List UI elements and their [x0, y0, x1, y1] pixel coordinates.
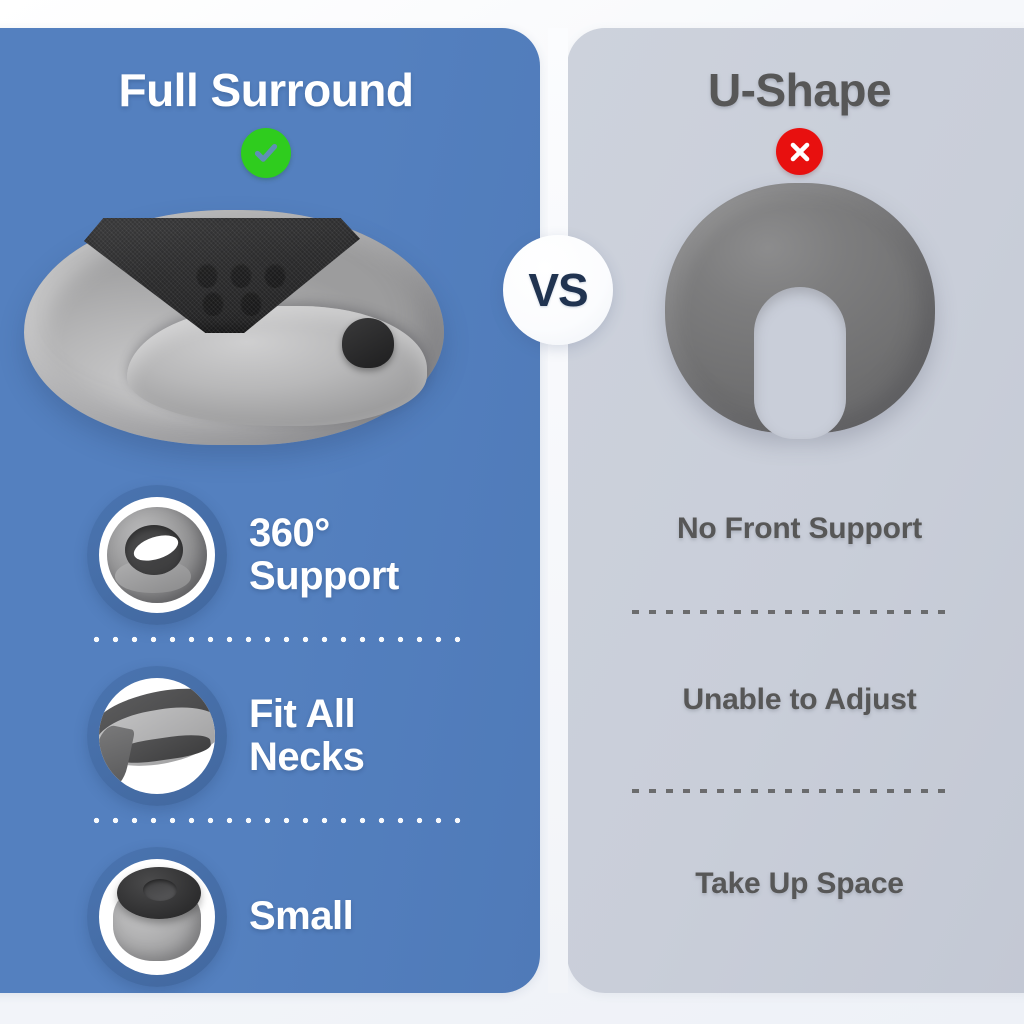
feature-label-360-support: 360° Support — [249, 512, 399, 598]
right-panel-title: U-Shape — [567, 66, 1024, 114]
left-panel-title: Full Surround — [0, 66, 540, 114]
feature-row-small: Small — [87, 842, 507, 992]
u-shape-neck-opening — [754, 287, 846, 439]
vs-badge: VS — [503, 235, 613, 345]
cross-circle-icon — [776, 128, 823, 175]
feature-label-small: Small — [249, 895, 353, 938]
right-panel-u-shape: U-Shape — [567, 28, 1024, 993]
feature-row-360-support: 360° Support — [87, 480, 507, 630]
right-separator-1 — [632, 610, 954, 614]
left-panel-header: Full Surround — [0, 66, 540, 178]
drawback-no-front-support: No Front Support — [567, 512, 1024, 546]
full-surround-pillow-image — [12, 198, 462, 458]
vs-label: VS — [528, 263, 587, 317]
left-separator-2 — [87, 817, 469, 824]
compact-pillow-icon — [87, 847, 227, 987]
right-panel-header: U-Shape — [567, 66, 1024, 175]
coiled-pillow-icon — [87, 485, 227, 625]
drawback-take-up-space: Take Up Space — [567, 867, 1024, 901]
left-panel-full-surround: Full Surround — [0, 28, 540, 993]
neck-fit-pillow-icon — [87, 666, 227, 806]
check-circle-icon — [241, 128, 291, 178]
pillow-strap-clip — [342, 318, 394, 368]
feature-label-line2: Support — [249, 555, 399, 598]
feature-label-fit-all-necks: Fit All Necks — [249, 693, 364, 779]
panel-divider — [548, 28, 568, 993]
comparison-infographic: Full Surround — [0, 0, 1024, 1024]
feature-label-line1: Small — [249, 895, 353, 938]
feature-label-line2: Necks — [249, 736, 364, 779]
right-separator-2 — [632, 789, 954, 793]
feature-label-line1: Fit All — [249, 693, 364, 736]
u-shape-pillow-image — [665, 183, 935, 433]
feature-label-line1: 360° — [249, 512, 399, 555]
feature-row-fit-all-necks: Fit All Necks — [87, 661, 507, 811]
left-separator-1 — [87, 636, 469, 643]
drawback-unable-to-adjust: Unable to Adjust — [567, 683, 1024, 717]
